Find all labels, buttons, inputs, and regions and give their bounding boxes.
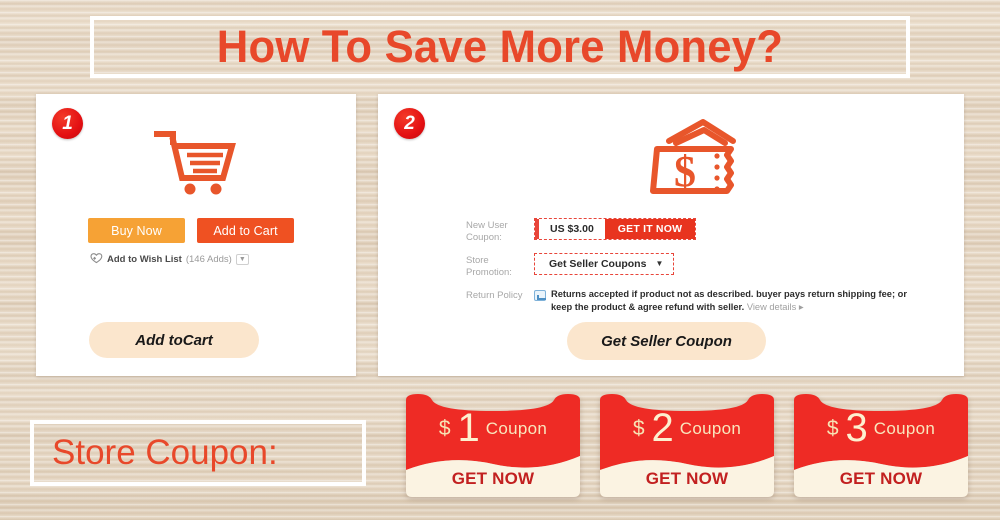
store-promotion-label: Store Promotion: xyxy=(466,253,534,279)
new-user-coupon-label: New User Coupon: xyxy=(466,218,534,244)
coupon-amount: 1 xyxy=(458,408,479,448)
chevron-down-icon[interactable]: ▼ xyxy=(236,254,249,265)
buy-now-button[interactable]: Buy Now xyxy=(88,218,185,243)
page-title: How To Save More Money? xyxy=(217,21,783,73)
store-coupon-frame: Store Coupon: xyxy=(30,420,366,486)
coupon-word: Coupon xyxy=(874,420,935,437)
return-policy-label: Return Policy xyxy=(466,288,534,302)
coupon-card[interactable]: $ 3 Coupon GET NOW xyxy=(786,394,976,499)
new-user-coupon-row: New User Coupon: US $3.00 GET IT NOW xyxy=(466,218,936,244)
wishlist-count: (146 Adds) xyxy=(186,254,232,265)
coupon-word: Coupon xyxy=(486,420,547,437)
step-1-panel: 1 Buy Now Add to Cart xyxy=(36,94,356,376)
coupon-card[interactable]: $ 1 Coupon GET NOW xyxy=(398,394,588,499)
return-policy-body: Returns accepted if product not as descr… xyxy=(551,289,907,312)
coupon-card-bottom: GET NOW xyxy=(592,462,782,496)
currency-symbol: $ xyxy=(633,418,645,439)
coupon-word: Coupon xyxy=(680,420,741,437)
coupon-card-top: $ 3 Coupon xyxy=(786,402,976,454)
coupon-card-bottom: GET NOW xyxy=(398,462,588,496)
get-seller-coupon-cta[interactable]: Get Seller Coupon xyxy=(567,322,766,360)
currency-symbol: $ xyxy=(439,418,451,439)
purchase-buttons: Buy Now Add to Cart xyxy=(88,218,294,243)
coupon-card-top: $ 2 Coupon xyxy=(592,402,782,454)
get-it-now-button[interactable]: GET IT NOW xyxy=(605,219,695,239)
wishlist-row[interactable]: Add to Wish List (146 Adds) ▼ xyxy=(90,252,249,267)
coupon-amount: 3 xyxy=(846,408,867,448)
caret-down-icon: ▼ xyxy=(655,260,663,268)
coupon-amount: US $3.00 xyxy=(539,219,605,239)
seller-coupons-value: Get Seller Coupons xyxy=(539,258,655,270)
new-user-coupon-box: US $3.00 GET IT NOW xyxy=(534,218,696,240)
get-now-button[interactable]: GET NOW xyxy=(646,469,729,489)
title-frame: How To Save More Money? xyxy=(90,16,910,78)
store-coupon-heading: Store Coupon: xyxy=(52,433,278,473)
get-now-button[interactable]: GET NOW xyxy=(452,469,535,489)
add-to-cart-cta[interactable]: Add toCart xyxy=(89,322,259,358)
coupon-ticket-icon: $ xyxy=(378,116,964,208)
return-policy-row: Return Policy Returns accepted if produc… xyxy=(466,288,936,313)
heart-plus-icon xyxy=(90,252,103,267)
step-2-panel: 2 $ New User Coupon: xyxy=(378,94,964,376)
coupon-card[interactable]: $ 2 Coupon GET NOW xyxy=(592,394,782,499)
coupon-amount: 2 xyxy=(652,408,673,448)
view-details-link[interactable]: View details ▸ xyxy=(747,302,804,312)
add-to-cart-button[interactable]: Add to Cart xyxy=(197,218,294,243)
promo-banner: How To Save More Money? 1 Buy Now xyxy=(0,0,1000,520)
return-arrow-icon xyxy=(534,290,546,301)
coupon-card-top: $ 1 Coupon xyxy=(398,402,588,454)
return-policy-text: Returns accepted if product not as descr… xyxy=(551,288,923,313)
store-promotion-row: Store Promotion: Get Seller Coupons ▼ xyxy=(466,253,936,279)
wishlist-label: Add to Wish List xyxy=(107,254,182,265)
shopping-cart-icon xyxy=(36,128,356,196)
seller-coupons-dropdown[interactable]: Get Seller Coupons ▼ xyxy=(534,253,674,275)
svg-text:$: $ xyxy=(674,147,696,196)
coupon-detail-rows: New User Coupon: US $3.00 GET IT NOW Sto… xyxy=(466,218,936,322)
coupon-card-bottom: GET NOW xyxy=(786,462,976,496)
get-now-button[interactable]: GET NOW xyxy=(840,469,923,489)
currency-symbol: $ xyxy=(827,418,839,439)
